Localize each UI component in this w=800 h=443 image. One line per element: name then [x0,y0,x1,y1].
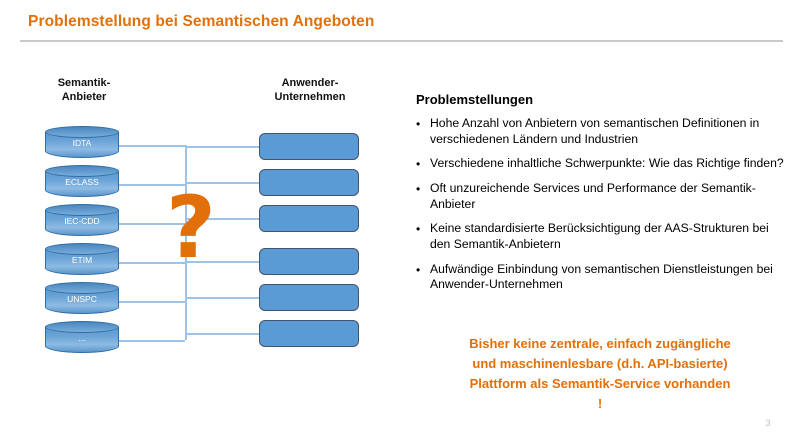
conclusion-text: Bisher keine zentrale, einfach zugänglic… [408,334,792,414]
problem-bullet-text: Oft unzureichende Services und Performan… [430,181,788,212]
problem-bullet-item: •Verschiedene inhaltliche Schwerpunkte: … [416,156,788,172]
bullet-marker-icon: • [416,221,430,252]
bullet-marker-icon: • [416,181,430,212]
connector-line-consumer [185,333,259,335]
page-number: 3 [758,418,778,428]
diagram-right-heading: Anwender- Unternehmen [252,76,368,104]
consumer-box[interactable] [259,320,359,347]
bullet-marker-icon: • [416,156,430,172]
bullet-marker-icon: • [416,262,430,293]
cylinder-top-ellipse [45,204,119,216]
provider-label: ... [45,333,119,343]
provider-cylinder[interactable]: IEC-CDD [45,204,119,236]
question-mark-icon: ? [160,178,222,278]
cylinder-top-ellipse [45,165,119,177]
panel-heading: Problemstellungen [416,92,788,107]
problem-bullet-item: •Oft unzureichende Services und Performa… [416,181,788,212]
diagram: Semantik- Anbieter Anwender- Unternehmen… [0,0,400,443]
problem-bullet-item: •Hohe Anzahl von Anbietern von semantisc… [416,116,788,147]
consumer-box[interactable] [259,284,359,311]
provider-cylinder[interactable]: ECLASS [45,165,119,197]
cylinder-top-ellipse [45,321,119,333]
provider-label: ECLASS [45,177,119,187]
consumer-box[interactable] [259,205,359,232]
provider-cylinder[interactable]: ETIM [45,243,119,275]
provider-label: UNSPC [45,294,119,304]
provider-cylinder[interactable]: ... [45,321,119,353]
consumer-box[interactable] [259,248,359,275]
consumer-box[interactable] [259,133,359,160]
provider-label: ETIM [45,255,119,265]
connector-line-provider [119,340,185,342]
problem-bullet-text: Keine standardisierte Berücksichtigung d… [430,221,788,252]
cylinder-top-ellipse [45,282,119,294]
provider-label: IEC-CDD [45,216,119,226]
problem-bullet-item: •Aufwändige Einbindung von semantischen … [416,262,788,293]
consumer-box[interactable] [259,169,359,196]
provider-label: IDTA [45,138,119,148]
diagram-left-heading: Semantik- Anbieter [36,76,132,104]
cylinder-top-ellipse [45,126,119,138]
problem-bullet-list: •Hohe Anzahl von Anbietern von semantisc… [416,116,788,293]
bullet-marker-icon: • [416,116,430,147]
connector-line-consumer [185,297,259,299]
connector-line-consumer [185,146,259,148]
provider-cylinder[interactable]: IDTA [45,126,119,158]
problem-bullet-text: Aufwändige Einbindung von semantischen D… [430,262,788,293]
cylinder-top-ellipse [45,243,119,255]
connector-line-provider [119,145,185,147]
problem-bullet-text: Hohe Anzahl von Anbietern von semantisch… [430,116,788,147]
problem-bullet-text: Verschiedene inhaltliche Schwerpunkte: W… [430,156,784,172]
problem-bullet-item: •Keine standardisierte Berücksichtigung … [416,221,788,252]
provider-cylinder[interactable]: UNSPC [45,282,119,314]
problem-panel: Problemstellungen •Hohe Anzahl von Anbie… [416,92,788,302]
connector-line-provider [119,301,185,303]
